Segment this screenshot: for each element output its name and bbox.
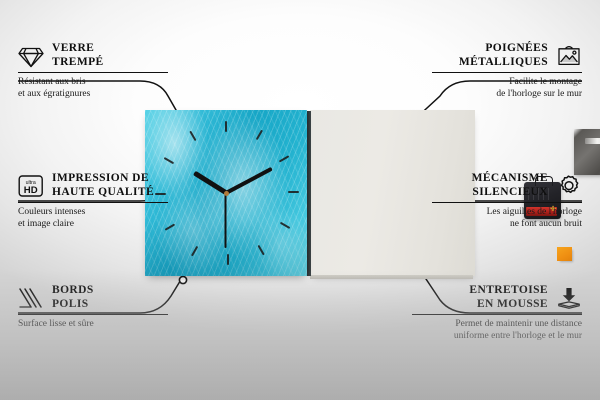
infographic-canvas: VERRE TREMPÉ Résistant aux bris et aux é… (0, 0, 600, 400)
diamond-icon (18, 44, 44, 68)
callout-poignees-metalliques: POIGNÉES MÉTALLIQUES Facilite le montage… (432, 42, 582, 100)
bevel-edges-icon (18, 286, 44, 310)
callout-title: ENTRETOISE EN MOUSSE (469, 284, 548, 311)
callout-subtitle: Couleurs intenses et image claire (18, 207, 168, 230)
tick-mark (227, 254, 229, 265)
hour-hand (192, 171, 227, 195)
callout-title: BORDS POLIS (52, 284, 94, 311)
tick-mark (191, 246, 198, 257)
ultra-hd-icon: ultra HD (18, 174, 44, 198)
tick-mark (279, 155, 290, 162)
callout-bords-polis: BORDS POLIS Surface lisse et sûre (18, 284, 168, 331)
foam-spacer (557, 247, 572, 261)
second-hand (225, 193, 227, 248)
tick-mark (288, 191, 299, 193)
tick-mark (258, 245, 265, 256)
callout-rule (18, 202, 168, 203)
tick-mark (164, 157, 175, 164)
callout-rule (18, 314, 168, 315)
callout-rule (18, 72, 168, 73)
connector-dot-bords-polis (179, 276, 186, 283)
hands-center-cap (224, 191, 229, 196)
hanger-slot (585, 138, 600, 144)
callout-rule (432, 72, 582, 73)
minute-hand (225, 167, 273, 195)
clock-dial (145, 110, 307, 276)
svg-text:HD: HD (24, 185, 38, 196)
callout-title: IMPRESSION DE HAUTE QUALITÉ (52, 172, 154, 199)
callout-title: VERRE TREMPÉ (52, 42, 104, 69)
tick-mark (189, 131, 196, 142)
callout-subtitle: Surface lisse et sûre (18, 319, 168, 331)
callout-mecanisme-silencieux: MÉCANISME SILENCIEUX Les aiguilles de l'… (432, 172, 582, 230)
callout-title: POIGNÉES MÉTALLIQUES (459, 42, 548, 69)
tick-mark (280, 222, 291, 229)
tick-mark (256, 130, 263, 141)
callout-verre-trempe: VERRE TREMPÉ Résistant aux bris et aux é… (18, 42, 168, 100)
callout-subtitle: Résistant aux bris et aux égratignures (18, 77, 168, 100)
metal-hanger-plate (574, 129, 600, 175)
callout-entretoise-en-mousse: ENTRETOISE EN MOUSSE Permet de maintenir… (412, 284, 582, 342)
tick-mark (225, 121, 227, 132)
gear-icon (556, 174, 582, 198)
wall-mount-frame-icon (556, 44, 582, 68)
callout-subtitle: Facilite le montage de l'horloge sur le … (432, 77, 582, 100)
callout-rule (432, 202, 582, 203)
product-photo (145, 110, 475, 276)
callout-subtitle: Les aiguilles de l'horloge ne font aucun… (432, 207, 582, 230)
callout-rule (412, 314, 582, 315)
clock-face (145, 110, 307, 276)
callout-subtitle: Permet de maintenir une distance uniform… (412, 319, 582, 342)
callout-title: MÉCANISME SILENCIEUX (472, 172, 548, 199)
callout-impression-haute-qualite: ultra HD IMPRESSION DE HAUTE QUALITÉ Cou… (18, 172, 168, 230)
foam-spacer-arrow-icon (556, 286, 582, 310)
